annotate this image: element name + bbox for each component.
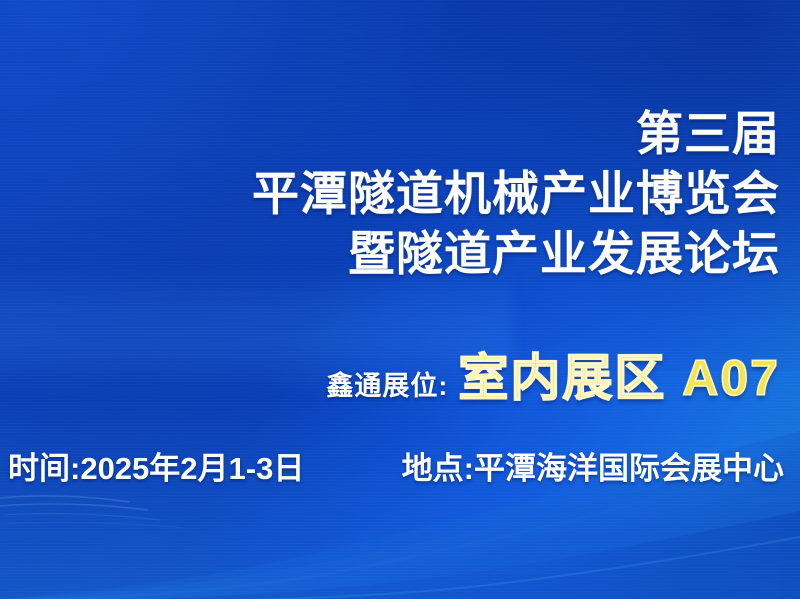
title-line-edition: 第三届 bbox=[252, 104, 780, 164]
event-date: 时间:2025年2月1-3日 bbox=[8, 443, 304, 488]
booth-info-row: 鑫通展位: 室内展区 A07 bbox=[326, 338, 780, 410]
booth-number: 室内展区 A07 bbox=[458, 338, 780, 410]
event-info-row: 时间:2025年2月1-3日 地点:平潭海洋国际会展中心 bbox=[8, 443, 784, 488]
title-line-subtitle: 暨隧道产业发展论坛 bbox=[252, 224, 780, 284]
title-line-main: 平潭隧道机械产业博览会 bbox=[252, 164, 780, 224]
poster-content: 第三届 平潭隧道机械产业博览会 暨隧道产业发展论坛 鑫通展位: 室内展区 A07… bbox=[0, 0, 800, 599]
exhibition-poster: 第三届 平潭隧道机械产业博览会 暨隧道产业发展论坛 鑫通展位: 室内展区 A07… bbox=[0, 0, 800, 599]
poster-title-block: 第三届 平潭隧道机械产业博览会 暨隧道产业发展论坛 bbox=[252, 104, 780, 284]
event-venue: 地点:平潭海洋国际会展中心 bbox=[402, 443, 784, 488]
booth-label: 鑫通展位: bbox=[326, 364, 448, 403]
